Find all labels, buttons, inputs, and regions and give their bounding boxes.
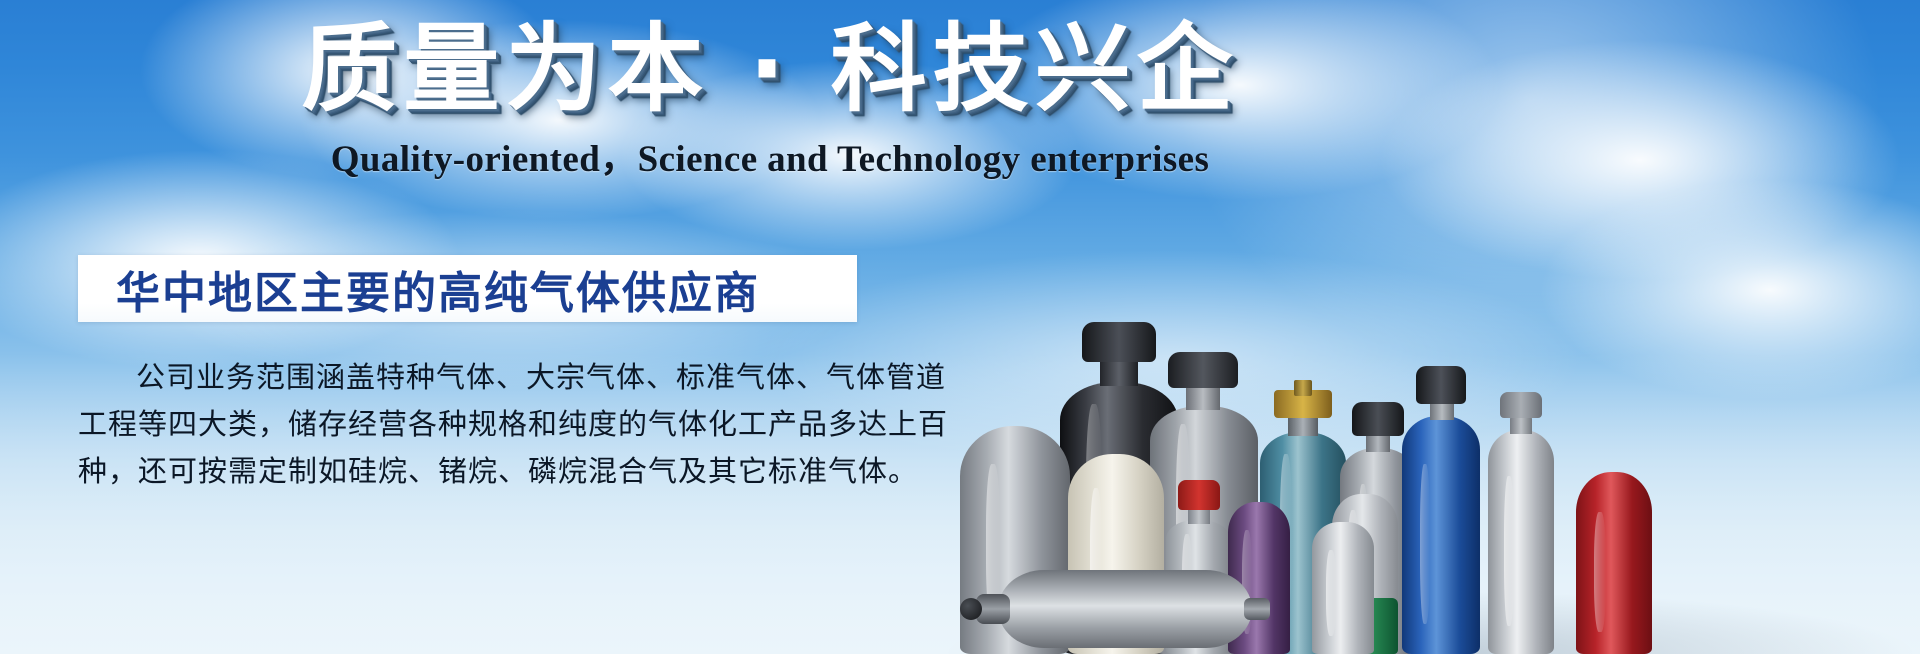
paragraph-line: 工程等四大类，储存经营各种规格和纯度的气体化工产品多达上百 — [78, 402, 868, 449]
red-cylinder — [1576, 472, 1652, 654]
gas-cylinder-product-lineup — [940, 150, 1920, 654]
cylinder-cap — [1082, 322, 1156, 362]
horizontal-cylinder — [976, 570, 1266, 648]
blue-cylinder — [1402, 364, 1480, 654]
description-paragraph: 公司业务范围涵盖特种气体、大宗气体、标准气体、气体管道 工程等四大类，储存经营各… — [78, 355, 868, 496]
paragraph-line: 公司业务范围涵盖特种气体、大宗气体、标准气体、气体管道 — [78, 355, 868, 402]
aluminium-cylinder — [1488, 392, 1554, 654]
headline-chinese: 质量为本 · 科技兴企 — [0, 16, 1540, 124]
callout-box: 华中地区主要的高纯气体供应商 — [78, 255, 857, 322]
small-aluminium-cylinder — [1312, 522, 1374, 654]
callout-text: 华中地区主要的高纯气体供应商 — [78, 257, 760, 321]
promotional-banner: 质量为本 · 科技兴企 Quality-oriented，Science and… — [0, 0, 1920, 654]
paragraph-line: 种，还可按需定制如硅烷、锗烷、磷烷混合气及其它标准气体。 — [78, 449, 868, 496]
